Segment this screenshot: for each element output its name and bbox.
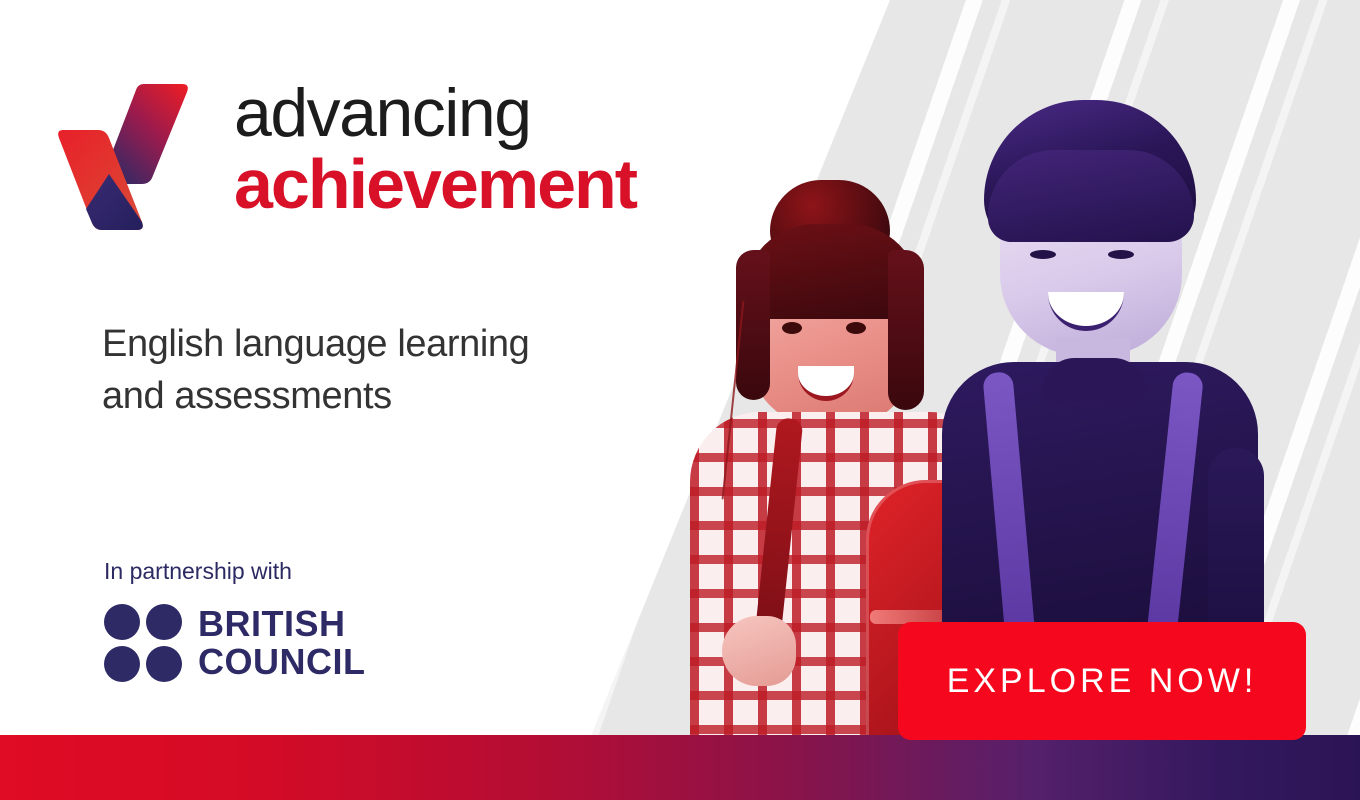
partnership-block: In partnership with BRITISH COUNCIL: [104, 556, 464, 682]
girl-eye-left: [782, 322, 802, 334]
brand-logo-lockup: advancing achievement: [48, 70, 688, 250]
explore-now-button[interactable]: EXPLORE NOW!: [898, 622, 1306, 740]
boy-eye-left: [1030, 250, 1056, 259]
bottom-gradient-bar: [0, 735, 1360, 800]
british-council-dots-icon: [104, 604, 182, 682]
promotional-banner: advancing achievement English language l…: [0, 0, 1360, 800]
boy-eye-right: [1108, 250, 1134, 259]
bc-dot-bottom-right: [146, 646, 182, 682]
bc-dot-top-right: [146, 604, 182, 640]
bc-word-council: COUNCIL: [198, 643, 366, 681]
boy-fringe: [988, 150, 1194, 242]
tagline-line-1: English language learning: [102, 318, 662, 370]
girl-hand: [722, 616, 796, 686]
british-council-wordmark: BRITISH COUNCIL: [198, 605, 366, 681]
wordmark-line-achievement: achievement: [234, 148, 704, 220]
wordmark-line-advancing: advancing: [234, 78, 704, 148]
tagline-line-2: and assessments: [102, 370, 662, 422]
boy-collar: [1042, 358, 1146, 402]
british-council-logo: BRITISH COUNCIL: [104, 604, 464, 682]
bc-dot-bottom-left: [104, 646, 140, 682]
partnership-label: In partnership with: [104, 556, 464, 586]
bc-word-british: BRITISH: [198, 605, 366, 643]
advancing-achievement-checkmark-logo: [48, 70, 228, 250]
brand-wordmark: advancing achievement: [234, 78, 704, 220]
tagline: English language learning and assessment…: [102, 318, 662, 422]
bc-dot-top-left: [104, 604, 140, 640]
girl-eye-right: [846, 322, 866, 334]
